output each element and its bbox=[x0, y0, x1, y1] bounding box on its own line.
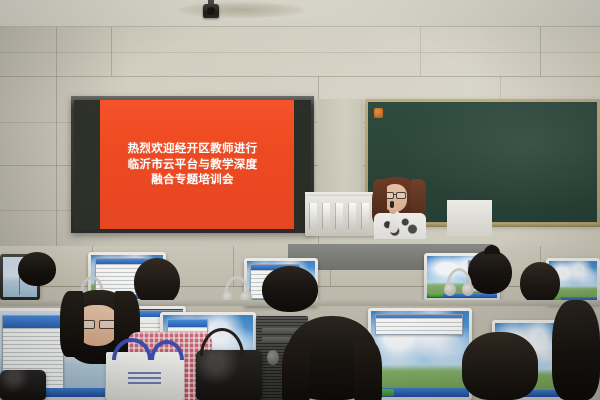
projection-screen[interactable]: 热烈欢迎经开区教师进行 临沂市云平台与教学深度 融合专题培训会 bbox=[71, 96, 314, 233]
tote-bag-logo bbox=[128, 372, 161, 384]
presenter bbox=[370, 175, 430, 237]
ceiling-camera-icon bbox=[203, 4, 219, 18]
slide-line-2: 临沂市云平台与教学深度 bbox=[74, 157, 311, 173]
attendee-right-front bbox=[462, 332, 538, 400]
attendee-center-front bbox=[286, 316, 378, 400]
ceiling-water-stain bbox=[178, 2, 304, 18]
projection-surface: 热烈欢迎经开区教师进行 临沂市云平台与教学深度 融合专题培训会 bbox=[74, 100, 311, 229]
presenter-glasses-icon bbox=[384, 192, 406, 197]
slide-text-block: 热烈欢迎经开区教师进行 临沂市云平台与教学深度 融合专题培训会 bbox=[74, 141, 311, 188]
attendee-right-ponytail bbox=[468, 250, 512, 294]
slide-line-1: 热烈欢迎经开区教师进行 bbox=[74, 141, 311, 157]
attendee-back-left bbox=[18, 252, 56, 286]
attendee-far-right bbox=[520, 262, 560, 304]
attendee-center-front-head bbox=[262, 266, 318, 312]
blackboard-corner-sticker-icon bbox=[374, 108, 383, 118]
attendee-center-back bbox=[134, 258, 180, 306]
slide-line-3: 融合专题培训会 bbox=[74, 172, 311, 188]
microphone-icon bbox=[390, 201, 394, 208]
headphones-right[interactable] bbox=[446, 268, 472, 296]
black-bag-left-edge[interactable] bbox=[0, 370, 46, 400]
attendee-edge-right bbox=[552, 300, 600, 400]
podium-side-equipment bbox=[447, 200, 492, 236]
classroom-photo: 热烈欢迎经开区教师进行 临沂市云平台与教学深度 融合专题培训会 bbox=[0, 0, 600, 400]
ceiling-band bbox=[0, 0, 600, 27]
black-shoulder-bag[interactable] bbox=[196, 350, 262, 400]
monitor-front-4[interactable] bbox=[368, 308, 472, 400]
